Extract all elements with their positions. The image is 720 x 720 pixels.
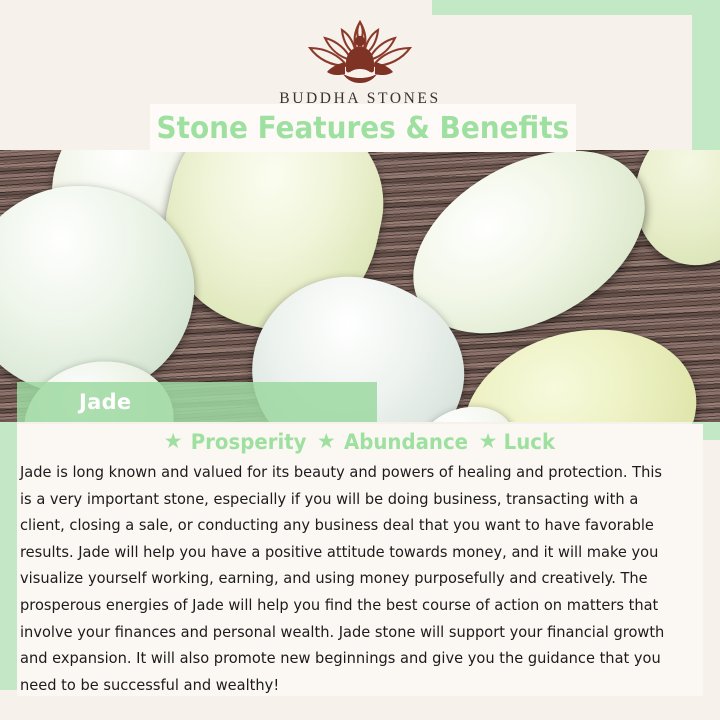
brand-logo: BUDDHA STONES [0,14,720,108]
stone-description: Jade is long known and valued for its be… [20,459,667,698]
benefit-label: Abundance [344,430,468,454]
stone-name-band: Jade [17,382,377,422]
benefit-item: ★ Prosperity [164,430,310,454]
benefits-list: ★ Prosperity ★ Abundance ★ Luck [17,430,703,454]
lotus-meditation-icon [285,14,435,88]
star-icon: ★ [479,431,498,452]
star-icon: ★ [317,431,336,452]
stone-name-label: Jade [79,390,131,414]
title-banner: Stone Features & Benefits [150,104,576,152]
benefit-item: ★ Luck [479,430,557,454]
benefit-label: Luck [503,430,554,454]
star-icon: ★ [164,431,183,452]
benefit-item: ★ Abundance [317,430,472,454]
page-title: Stone Features & Benefits [157,111,570,146]
stone-info-card: BUDDHA STONES Stone Features & Benefits … [0,0,720,720]
frame-accent-top [432,0,720,15]
benefit-label: Prosperity [190,430,306,454]
